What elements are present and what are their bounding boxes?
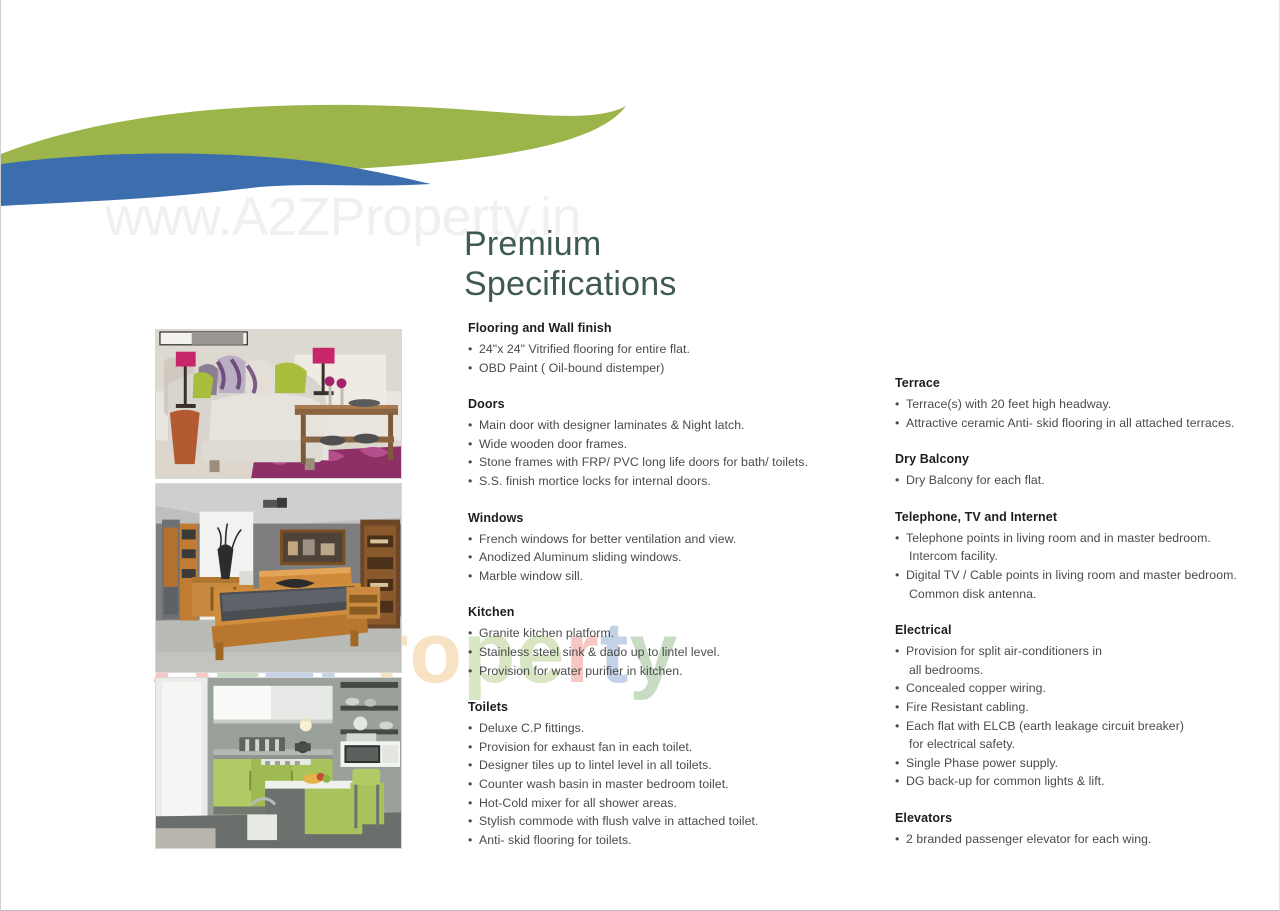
spec-list-item: •Single Phase power supply. <box>895 754 1255 773</box>
spec-item-text: Anodized Aluminum sliding windows. <box>479 550 682 564</box>
bullet-icon: • <box>468 359 472 378</box>
spec-item-text: Hot-Cold mixer for all shower areas. <box>479 796 677 810</box>
bullet-icon: • <box>468 719 472 738</box>
bullet-icon: • <box>468 453 472 472</box>
spec-list-item: •Anodized Aluminum sliding windows. <box>468 548 868 567</box>
spec-list-item: •Stone frames with FRP/ PVC long life do… <box>468 453 868 472</box>
spec-item-text: S.S. finish mortice locks for internal d… <box>479 474 711 488</box>
spec-item-text: Stylish commode with flush valve in atta… <box>479 814 758 828</box>
spec-group-heading: Telephone, TV and Internet <box>895 510 1255 524</box>
spec-item-text: OBD Paint ( Oil-bound distemper) <box>479 361 664 375</box>
spec-item-text: Attractive ceramic Anti- skid flooring i… <box>906 416 1235 430</box>
spec-item-continuation: for electrical safety. <box>906 735 1255 754</box>
spec-group-heading: Windows <box>468 511 868 525</box>
spec-list-item: •Provision for exhaust fan in each toile… <box>468 738 868 757</box>
page-title: Premium Specifications <box>464 225 677 305</box>
spec-list-item: •Deluxe C.P fittings. <box>468 719 868 738</box>
spec-item-text: Provision for split air-conditioners in <box>906 644 1102 658</box>
spec-list-item: •Designer tiles up to lintel level in al… <box>468 756 868 775</box>
spec-group-heading: Electrical <box>895 623 1255 637</box>
spec-list-item: •Wide wooden door frames. <box>468 435 868 454</box>
spec-item-text: Granite kitchen platform. <box>479 626 614 640</box>
spec-list-item: •Concealed copper wiring. <box>895 679 1255 698</box>
spec-group: Elevators•2 branded passenger elevator f… <box>895 811 1255 849</box>
spec-list: •Deluxe C.P fittings.•Provision for exha… <box>468 719 868 849</box>
photo-column <box>155 329 402 849</box>
spec-group-heading: Dry Balcony <box>895 452 1255 466</box>
bullet-icon: • <box>468 567 472 586</box>
bullet-icon: • <box>468 472 472 491</box>
spec-list: •Telephone points in living room and in … <box>895 529 1255 603</box>
spec-list-item: •Digital TV / Cable points in living roo… <box>895 566 1255 603</box>
bullet-icon: • <box>895 698 899 717</box>
spec-item-text: Digital TV / Cable points in living room… <box>906 568 1237 582</box>
spec-list: •Dry Balcony for each flat. <box>895 471 1255 490</box>
spec-item-text: Terrace(s) with 20 feet high headway. <box>906 397 1111 411</box>
spec-item-text: Fire Resistant cabling. <box>906 700 1029 714</box>
spec-group-heading: Terrace <box>895 376 1255 390</box>
spec-list-item: •Dry Balcony for each flat. <box>895 471 1255 490</box>
bullet-icon: • <box>895 471 899 490</box>
spec-item-text: Marble window sill. <box>479 569 583 583</box>
bullet-icon: • <box>895 529 899 548</box>
spec-item-text: Counter wash basin in master bedroom toi… <box>479 777 729 791</box>
spec-list-item: •OBD Paint ( Oil-bound distemper) <box>468 359 868 378</box>
spec-group: Terrace•Terrace(s) with 20 feet high hea… <box>895 376 1255 432</box>
bullet-icon: • <box>895 395 899 414</box>
bullet-icon: • <box>468 662 472 681</box>
spec-group: Flooring and Wall finish•24"x 24" Vitrif… <box>468 321 868 377</box>
spec-list: •Provision for split air-conditioners in… <box>895 642 1255 791</box>
spec-list-item: •S.S. finish mortice locks for internal … <box>468 472 868 491</box>
bullet-icon: • <box>468 756 472 775</box>
spec-list-item: •Stylish commode with flush valve in att… <box>468 812 868 831</box>
spec-list: •Granite kitchen platform.•Stainless ste… <box>468 624 868 680</box>
spec-item-text: DG back-up for common lights & lift. <box>906 774 1105 788</box>
spec-list: •Main door with designer laminates & Nig… <box>468 416 868 490</box>
spec-list-item: •Provision for split air-conditioners in… <box>895 642 1255 679</box>
bullet-icon: • <box>468 530 472 549</box>
spec-item-continuation: Intercom facility. <box>906 547 1255 566</box>
spec-list-item: •Terrace(s) with 20 feet high headway. <box>895 395 1255 414</box>
spec-list-item: •Provision for water purifier in kitchen… <box>468 662 868 681</box>
spec-item-text: Stainless steel sink & dado up to lintel… <box>479 645 720 659</box>
spec-item-text: Deluxe C.P fittings. <box>479 721 584 735</box>
page-title-line1: Premium <box>464 225 677 265</box>
spec-group: Toilets•Deluxe C.P fittings.•Provision f… <box>468 700 868 849</box>
bullet-icon: • <box>468 812 472 831</box>
spec-group-heading: Flooring and Wall finish <box>468 321 868 335</box>
spec-group-heading: Doors <box>468 397 868 411</box>
spec-list-item: •Granite kitchen platform. <box>468 624 868 643</box>
spec-item-continuation: Common disk antenna. <box>906 585 1255 604</box>
bullet-icon: • <box>468 624 472 643</box>
bullet-icon: • <box>895 414 899 433</box>
spec-item-text: Provision for exhaust fan in each toilet… <box>479 740 692 754</box>
spec-group-heading: Toilets <box>468 700 868 714</box>
spec-list-item: •French windows for better ventilation a… <box>468 530 868 549</box>
bullet-icon: • <box>468 340 472 359</box>
spec-item-text: Dry Balcony for each flat. <box>906 473 1045 487</box>
spec-list: •2 branded passenger elevator for each w… <box>895 830 1255 849</box>
specifications-right-column: Terrace•Terrace(s) with 20 feet high hea… <box>895 376 1255 849</box>
spec-item-text: 2 branded passenger elevator for each wi… <box>906 832 1152 846</box>
bedroom-photo <box>155 483 402 673</box>
spec-list: •24"x 24" Vitrified flooring for entire … <box>468 340 868 377</box>
bullet-icon: • <box>468 416 472 435</box>
spec-item-text: Designer tiles up to lintel level in all… <box>479 758 712 772</box>
spec-list: •Terrace(s) with 20 feet high headway.•A… <box>895 395 1255 432</box>
bullet-icon: • <box>468 831 472 850</box>
spec-item-text: Anti- skid flooring for toilets. <box>479 833 632 847</box>
living-room-photo <box>155 329 402 479</box>
spec-item-text: Concealed copper wiring. <box>906 681 1046 695</box>
spec-list-item: •Hot-Cold mixer for all shower areas. <box>468 794 868 813</box>
watermark-letter: o <box>409 604 463 703</box>
spec-group-heading: Elevators <box>895 811 1255 825</box>
bullet-icon: • <box>468 548 472 567</box>
spec-group: Windows•French windows for better ventil… <box>468 511 868 586</box>
spec-list-item: •Fire Resistant cabling. <box>895 698 1255 717</box>
spec-group: Electrical•Provision for split air-condi… <box>895 623 1255 791</box>
spec-item-text: Stone frames with FRP/ PVC long life doo… <box>479 455 808 469</box>
bullet-icon: • <box>895 679 899 698</box>
spec-group: Telephone, TV and Internet•Telephone poi… <box>895 510 1255 603</box>
spec-item-text: Wide wooden door frames. <box>479 437 627 451</box>
spec-group-heading: Kitchen <box>468 605 868 619</box>
spec-item-text: French windows for better ventilation an… <box>479 532 736 546</box>
spec-group: Doors•Main door with designer laminates … <box>468 397 868 490</box>
bullet-icon: • <box>895 717 899 736</box>
bullet-icon: • <box>895 566 899 585</box>
spec-list-item: •Each flat with ELCB (earth leakage circ… <box>895 717 1255 754</box>
bullet-icon: • <box>895 754 899 773</box>
spec-group: Dry Balcony•Dry Balcony for each flat. <box>895 452 1255 490</box>
bullet-icon: • <box>895 830 899 849</box>
spec-item-text: Telephone points in living room and in m… <box>906 531 1211 545</box>
spec-list-item: •24"x 24" Vitrified flooring for entire … <box>468 340 868 359</box>
spec-list-item: •Anti- skid flooring for toilets. <box>468 831 868 850</box>
spec-list: •French windows for better ventilation a… <box>468 530 868 586</box>
spec-list-item: •Attractive ceramic Anti- skid flooring … <box>895 414 1255 433</box>
spec-item-text: Single Phase power supply. <box>906 756 1058 770</box>
spec-item-text: Provision for water purifier in kitchen. <box>479 664 683 678</box>
green-swoosh-shape <box>1 105 626 188</box>
spec-list-item: •Marble window sill. <box>468 567 868 586</box>
bullet-icon: • <box>468 794 472 813</box>
bullet-icon: • <box>895 642 899 661</box>
spec-list-item: •DG back-up for common lights & lift. <box>895 772 1255 791</box>
spec-list-item: •2 branded passenger elevator for each w… <box>895 830 1255 849</box>
spec-item-continuation: all bedrooms. <box>906 661 1255 680</box>
spec-list-item: •Counter wash basin in master bedroom to… <box>468 775 868 794</box>
specifications-left-column: Flooring and Wall finish•24"x 24" Vitrif… <box>468 321 868 849</box>
spec-item-text: 24"x 24" Vitrified flooring for entire f… <box>479 342 690 356</box>
kitchen-photo <box>155 677 402 849</box>
bullet-icon: • <box>468 643 472 662</box>
spec-list-item: •Main door with designer laminates & Nig… <box>468 416 868 435</box>
spec-item-text: Each flat with ELCB (earth leakage circu… <box>906 719 1184 733</box>
spec-list-item: •Telephone points in living room and in … <box>895 529 1255 566</box>
bullet-icon: • <box>468 738 472 757</box>
spec-list-item: •Stainless steel sink & dado up to linte… <box>468 643 868 662</box>
bullet-icon: • <box>895 772 899 791</box>
bullet-icon: • <box>468 435 472 454</box>
spec-item-text: Main door with designer laminates & Nigh… <box>479 418 745 432</box>
spec-group: Kitchen•Granite kitchen platform.•Stainl… <box>468 605 868 680</box>
page-title-line2: Specifications <box>464 265 677 305</box>
brochure-page: www.A2ZProperty.in A2ZProperty Premium S… <box>0 0 1280 911</box>
bullet-icon: • <box>468 775 472 794</box>
